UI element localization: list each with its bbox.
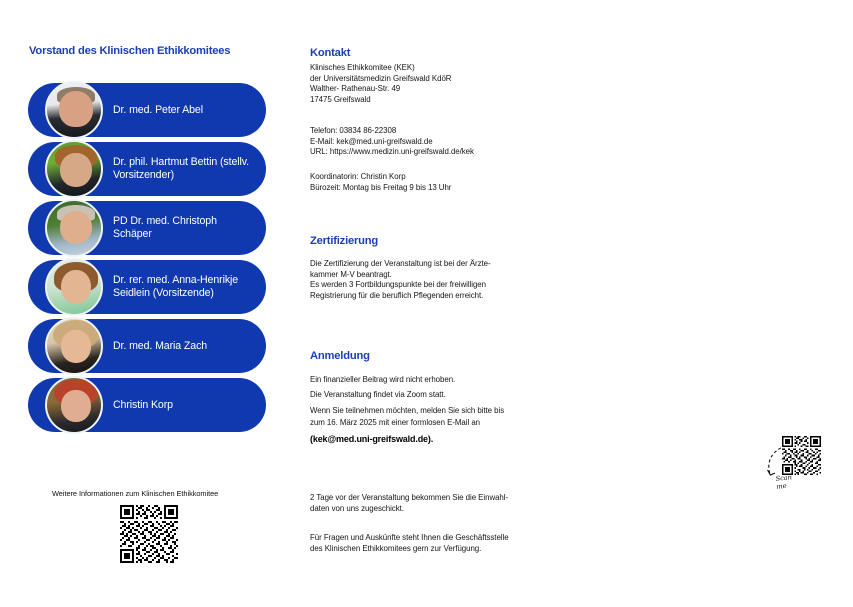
- anmeldung-paragraph-5: Für Fragen und Auskünfte steht Ihnen die…: [310, 533, 509, 554]
- avatar: [45, 258, 103, 316]
- anmeldung-heading: Anmeldung: [310, 350, 370, 362]
- anmeldung-paragraph-4: 2 Tage vor der Veranstaltung bekommen Si…: [310, 493, 508, 514]
- list-item[interactable]: Dr. rer. med. Anna-Henrikje Seidlein (Vo…: [28, 260, 266, 314]
- avatar: [45, 376, 103, 434]
- right-column: Universitäts medizin GREIFSWALD Das Klin…: [560, 0, 853, 607]
- anmeldung-paragraph-3: Wenn Sie teilnehmen möchten, melden Sie …: [310, 405, 504, 428]
- left-column: Vorstand des Klinischen Ethikkomitees Dr…: [0, 0, 290, 607]
- anmeldung-paragraph-1: Ein finanzieller Beitrag wird nicht erho…: [310, 375, 455, 386]
- member-name: Dr. med. Maria Zach: [113, 340, 258, 353]
- qr-code-weitere-informationen[interactable]: [120, 505, 178, 563]
- flyer-page: Vorstand des Klinischen Ethikkomitees Dr…: [0, 0, 853, 607]
- list-item[interactable]: PD Dr. med. Christoph Schäper: [28, 201, 266, 255]
- avatar: [45, 140, 103, 198]
- list-item[interactable]: Christin Korp: [28, 378, 266, 432]
- member-name: PD Dr. med. Christoph Schäper: [113, 215, 258, 241]
- board-member-list: Dr. med. Peter Abel Dr. phil. Hartmut Be…: [28, 83, 268, 437]
- avatar: [45, 81, 103, 139]
- list-item[interactable]: Dr. phil. Hartmut Bettin (stellv. Vorsit…: [28, 142, 266, 196]
- member-name: Dr. med. Peter Abel: [113, 104, 258, 117]
- weitere-informationen-label: Weitere Informationen zum Klinischen Eth…: [52, 489, 218, 498]
- zertifizierung-body: Die Zertifizierung der Veranstaltung ist…: [310, 259, 491, 301]
- zertifizierung-heading: Zertifizierung: [310, 235, 378, 247]
- kontakt-office-hours: Koordinatorin: Christin Korp Bürozeit: M…: [310, 172, 451, 193]
- member-name: Christin Korp: [113, 399, 258, 412]
- kontakt-details[interactable]: Telefon: 03834 86-22308 E-Mail: kek@med.…: [310, 126, 474, 158]
- list-item[interactable]: Dr. med. Peter Abel: [28, 83, 266, 137]
- kontakt-address: Klinisches Ethikkomitee (KEK) der Univer…: [310, 63, 451, 105]
- avatar: [45, 199, 103, 257]
- anmeldung-email-link[interactable]: (kek@med.uni-greifswald.de).: [310, 434, 433, 444]
- member-name: Dr. rer. med. Anna-Henrikje Seidlein (Vo…: [113, 274, 258, 300]
- list-item[interactable]: Dr. med. Maria Zach: [28, 319, 266, 373]
- vorstand-heading: Vorstand des Klinischen Ethikkomitees: [29, 45, 230, 57]
- member-name: Dr. phil. Hartmut Bettin (stellv. Vorsit…: [113, 156, 258, 182]
- avatar: [45, 317, 103, 375]
- anmeldung-paragraph-2: Die Veranstaltung findet via Zoom statt.: [310, 390, 446, 401]
- middle-column: Kontakt Klinisches Ethikkomitee (KEK) de…: [300, 0, 550, 607]
- kontakt-heading: Kontakt: [310, 47, 350, 59]
